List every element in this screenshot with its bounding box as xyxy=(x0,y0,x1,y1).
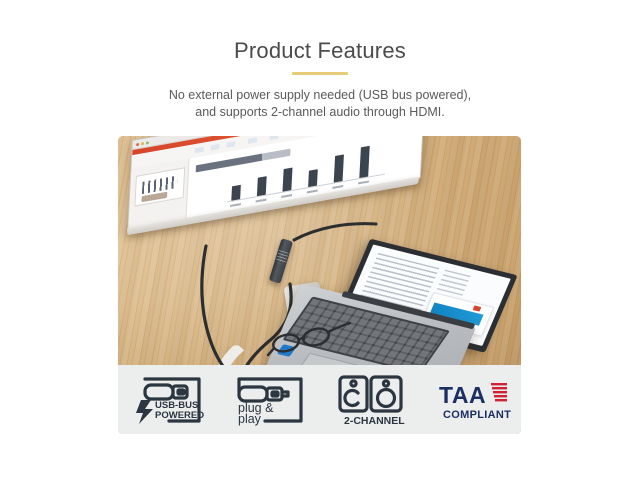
badge-usb-line2: POWERED xyxy=(155,410,204,421)
page-header: Product Features No external power suppl… xyxy=(0,0,640,121)
subtitle-line-1: No external power supply needed (USB bus… xyxy=(169,88,471,102)
feature-badge-strip: USB-BUS POWERED plug & play xyxy=(118,365,521,434)
two-speakers-icon: 2-CHANNEL xyxy=(333,373,409,427)
badge-plug-and-play: plug & play xyxy=(231,373,307,427)
badge-usb-bus-powered: USB-BUS POWERED xyxy=(129,373,205,427)
badge-2channel-label: 2-CHANNEL xyxy=(344,415,405,427)
usb-connector-bolt-icon: USB-BUS POWERED xyxy=(129,373,205,427)
adapter-label xyxy=(276,250,289,264)
slide-thumbnail-bars xyxy=(142,176,178,195)
badge-2-channel: 2-CHANNEL xyxy=(333,373,409,427)
taa-flag-icon: TAA COMPLIANT xyxy=(435,373,511,427)
slide-thumbnail xyxy=(134,167,185,206)
eyeglasses xyxy=(266,319,352,359)
plug-connector-icon: plug & play xyxy=(231,373,307,427)
badge-taa-compliant: TAA COMPLIANT xyxy=(435,373,511,427)
feature-badges: USB-BUS POWERED plug & play xyxy=(118,365,521,434)
product-photo: USB-BUS POWERED plug & play xyxy=(118,136,521,434)
laptop-card-badge xyxy=(473,305,482,311)
flag-stripes-icon xyxy=(491,383,507,401)
badge-taa-line1: TAA xyxy=(439,382,486,408)
page-title: Product Features xyxy=(0,0,640,64)
window-controls-icon xyxy=(136,140,150,146)
subtitle-line-2: and supports 2-channel audio through HDM… xyxy=(195,105,444,119)
page-subtitle: No external power supply needed (USB bus… xyxy=(0,75,640,121)
badge-plug-line2: play xyxy=(238,412,262,426)
badge-taa-line2: COMPLIANT xyxy=(443,409,511,421)
